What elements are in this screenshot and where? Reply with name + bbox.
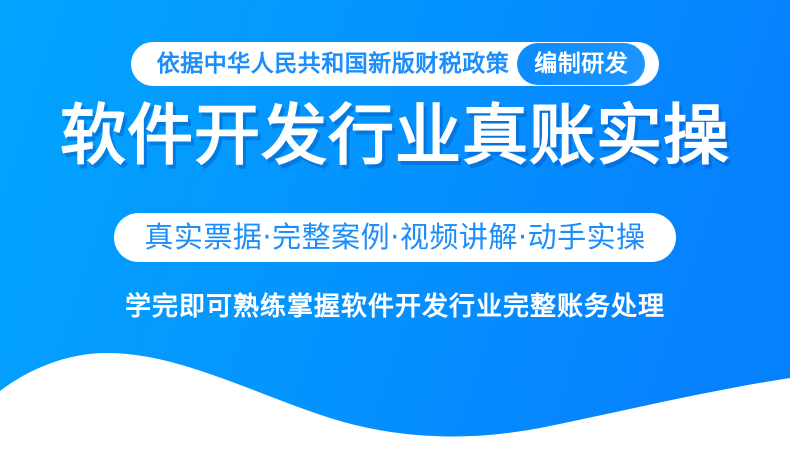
course-promo-banner: 依据中华人民共和国新版财税政策 编制研发 软件开发行业真账实操 真实票据·完整案… <box>0 0 790 449</box>
banner-headline: 软件开发行业真账实操 <box>0 99 790 173</box>
rnd-badge-label: 编制研发 <box>534 53 628 76</box>
features-row: 真实票据·完整案例·视频讲解·动手实操 <box>0 213 790 262</box>
features-pill-label: 真实票据·完整案例·视频讲解·动手实操 <box>144 223 645 252</box>
eyebrow-row: 依据中华人民共和国新版财税政策 编制研发 <box>0 42 790 86</box>
banner-tagline: 学完即可熟练掌握软件开发行业完整账务处理 <box>0 292 790 323</box>
rnd-badge: 编制研发 <box>517 43 645 85</box>
policy-pill-label: 依据中华人民共和国新版财税政策 <box>157 53 510 76</box>
policy-pill: 依据中华人民共和国新版财税政策 编制研发 <box>131 42 660 86</box>
features-pill: 真实票据·完整案例·视频讲解·动手实操 <box>114 213 675 262</box>
